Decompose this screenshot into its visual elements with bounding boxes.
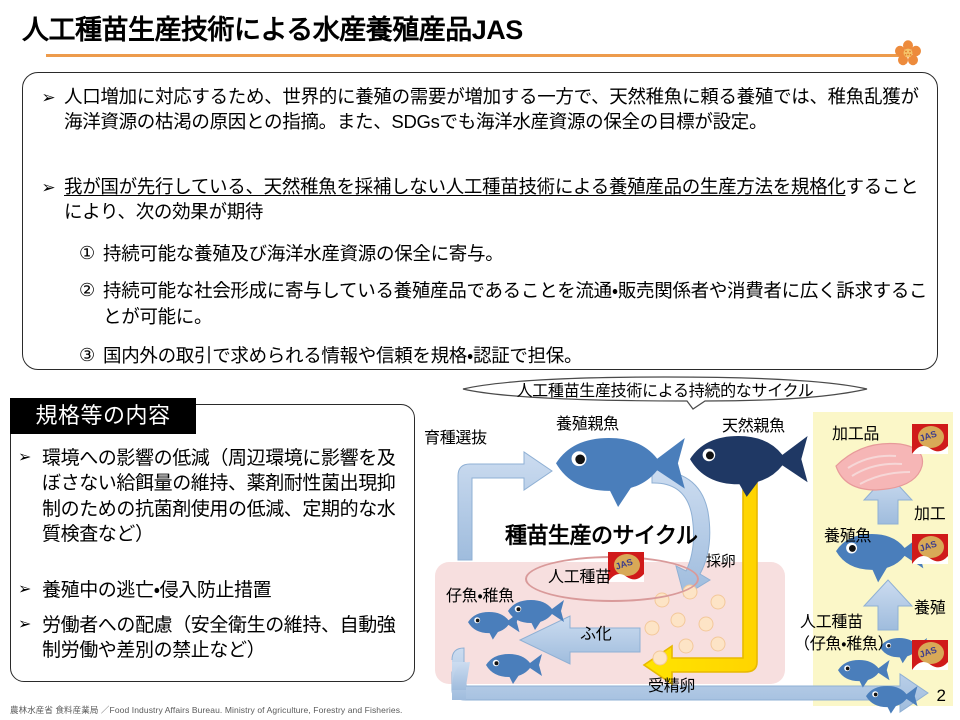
bullet-arrow-icon: ➢ (18, 615, 36, 636)
list-number: ① (79, 241, 103, 265)
title-underline-rule (46, 54, 912, 57)
standards-item-2-text: 養殖中の逃亡・侵入防止措置 (42, 578, 271, 603)
overview-numbered-1: ① 持続可能な養殖及び海洋水産資源の保全に寄与。 (79, 241, 929, 267)
bullet-arrow-icon: ➢ (18, 448, 36, 469)
footer-credit: 農林水産省 食料産業局 ／Food Industry Affairs Burea… (10, 704, 403, 716)
overview-numbered-2: ② 持続可能な社会形成に寄与している養殖産品であることを流通・販売関係者や消費者… (79, 278, 929, 329)
slide-root: 人工種苗生産技術による水産養殖産品JAS ➢ 人口増加に対応するため、世界的に養… (0, 0, 960, 720)
label-egg-collection: 採卵 (706, 550, 735, 571)
label-artificial-seed-column: 人工種苗 (800, 608, 863, 632)
overview-box: ➢ 人口増加に対応するため、世界的に養殖の需要が増加する一方で、天然稚魚に頼る養… (22, 72, 938, 370)
standards-item-3-text: 労働者への配慮（安全衛生の維持、自動強制労働や差別の禁止など） (42, 613, 396, 664)
overview-bullet-2: ➢ 我が国が先行している、天然稚魚を採補しない人工種苗技術による養殖産品の生産方… (40, 175, 926, 225)
label-farmed-fish: 養殖魚 (824, 522, 871, 546)
page-number: 2 (937, 686, 946, 706)
flower-ornament-icon (895, 40, 921, 66)
label-hatching: ふ化 (580, 620, 611, 644)
cycle-title: 種苗生産のサイクル (505, 518, 697, 550)
page-title: 人工種苗生産技術による水産養殖産品JAS (22, 8, 523, 47)
standards-item-2: ➢ 養殖中の逃亡・侵入防止措置 (18, 578, 396, 603)
standards-item-1-text: 環境への影響の低減（周辺環境に影響を及ぼさない給餌量の維持、薬剤耐性菌出現抑制の… (42, 446, 396, 547)
jas-mark-icon: JAS (608, 552, 644, 582)
overview-numbered-3: ③ 国内外の取引で求められる情報や信頼を規格・認証で担保。 (79, 343, 929, 369)
list-number: ② (79, 278, 103, 302)
label-wild-broodstock: 天然親魚 (722, 412, 785, 436)
bullet-arrow-icon: ➢ (40, 177, 57, 198)
cycle-callout-label: 人工種苗生産技術による持続的なサイクル (455, 380, 875, 404)
standards-panel-heading: 規格等の内容 (10, 398, 196, 434)
label-farmed-broodstock: 養殖親魚 (556, 410, 619, 434)
jas-mark-icon: JAS (912, 640, 948, 670)
standards-item-1: ➢ 環境への影響の低減（周辺環境に影響を及ぼさない給餌量の維持、薬剤耐性菌出現抑… (18, 446, 396, 547)
farmed-broodstock-fish-icon (556, 438, 685, 507)
bullet-arrow-icon: ➢ (18, 580, 36, 601)
overview-numbered-1-text: 持続可能な養殖及び海洋水産資源の保全に寄与。 (103, 241, 503, 267)
label-processed-product: 加工品 (832, 420, 879, 444)
overview-numbered-3-text: 国内外の取引で求められる情報や信頼を規格・認証で担保。 (103, 343, 582, 369)
label-larvae-juvenile: 仔魚・稚魚 (446, 582, 514, 606)
wild-broodstock-fish-icon (690, 436, 808, 497)
standards-item-3: ➢ 労働者への配慮（安全衛生の維持、自動強制労働や差別の禁止など） (18, 613, 396, 664)
label-breeding-selection: 育種選抜 (424, 424, 487, 448)
label-processing: 加工 (914, 500, 945, 524)
label-artificial-seed: 人工種苗 (548, 563, 611, 587)
overview-numbered-2-text: 持続可能な社会形成に寄与している養殖産品であることを流通・販売関係者や消費者に広… (103, 278, 929, 329)
label-fertilized-eggs: 受精卵 (648, 672, 695, 696)
list-number: ③ (79, 343, 103, 367)
overview-bullet-1: ➢ 人口増加に対応するため、世界的に養殖の需要が増加する一方で、天然稚魚に頼る養… (40, 85, 920, 135)
overview-bullet-1-text: 人口増加に対応するため、世界的に養殖の需要が増加する一方で、天然稚魚に頼る養殖で… (64, 85, 920, 135)
label-artificial-seed-sub: （仔魚・稚魚） (794, 630, 893, 654)
bullet-arrow-icon: ➢ (40, 87, 57, 108)
jas-mark-icon: JAS (912, 424, 948, 454)
overview-bullet-2-underlined: 我が国が先行している、天然稚魚を採補しない人工種苗技術による養殖産品の生産方法を… (64, 176, 846, 197)
jas-mark-icon: JAS (912, 534, 948, 564)
label-farming: 養殖 (914, 594, 945, 618)
